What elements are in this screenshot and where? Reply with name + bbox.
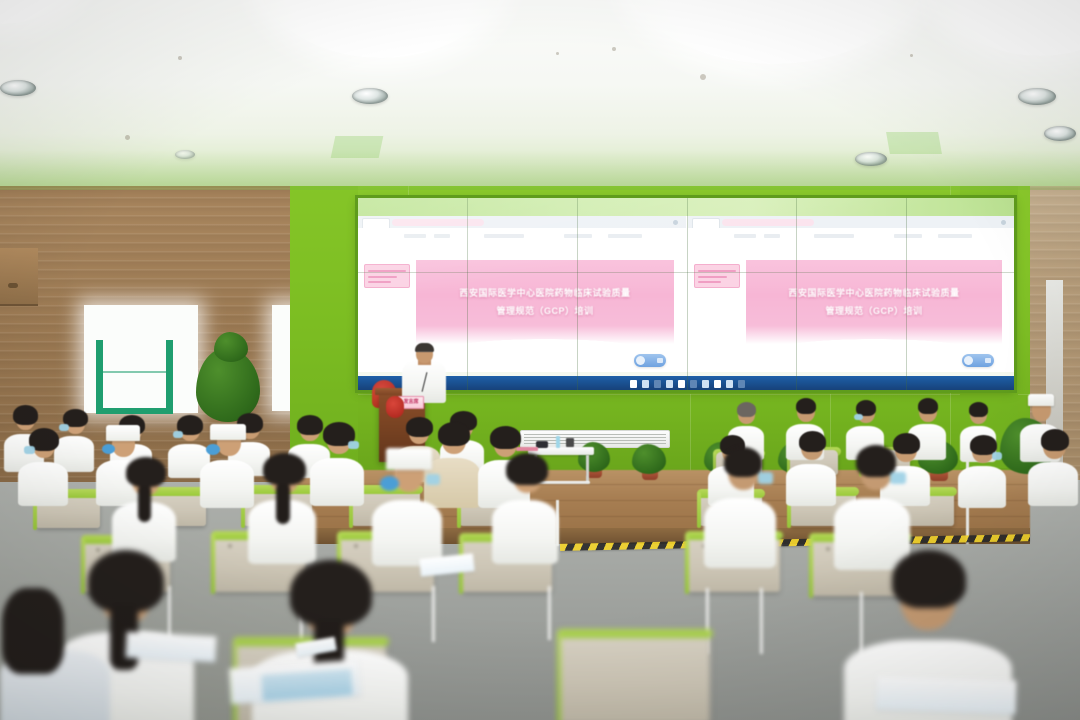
page-nav-row-left bbox=[364, 234, 680, 241]
browser-window-right[interactable]: 西安国际医学中心医院药物临床试验质量 管理规范（GCP）培训 bbox=[688, 216, 1014, 372]
window-frame-vertical-1 bbox=[96, 340, 103, 413]
browser-address-bar-right[interactable] bbox=[722, 219, 814, 226]
taskbar-icon-2[interactable] bbox=[654, 380, 661, 388]
window-frame-sill bbox=[96, 408, 173, 414]
ceiling bbox=[0, 0, 1080, 186]
window-frame-vertical-2 bbox=[166, 340, 173, 413]
foreground-person-far-left bbox=[0, 596, 110, 720]
slide-title-line1-right: 西安国际医学中心医院药物临床试验质量 bbox=[746, 286, 1002, 299]
browser-tab-left[interactable] bbox=[362, 218, 390, 228]
window-frame-mullion bbox=[96, 371, 173, 373]
water-bottle bbox=[556, 436, 560, 448]
table-item-device bbox=[566, 438, 574, 447]
taskbar-icon-8[interactable] bbox=[726, 380, 733, 388]
taskbar-icon-1[interactable] bbox=[642, 380, 649, 388]
screen-desktop-area: 西安国际医学中心医院药物临床试验质量 管理规范（GCP）培训 bbox=[358, 216, 1014, 372]
browser-page-right: 西安国际医学中心医院药物临床试验质量 管理规范（GCP）培训 bbox=[688, 228, 1014, 372]
browser-address-bar-left[interactable] bbox=[392, 219, 484, 226]
windows-taskbar[interactable] bbox=[358, 376, 1014, 390]
slide-title-line1-left: 西安国际医学中心医院药物临床试验质量 bbox=[416, 286, 674, 299]
cabinet-knob bbox=[8, 283, 18, 288]
browser-menu-dot-right[interactable] bbox=[1001, 220, 1006, 225]
page-side-card-right bbox=[694, 264, 740, 288]
page-side-card-left bbox=[364, 264, 410, 288]
ceiling-skylight-2 bbox=[256, 0, 506, 58]
ceiling-green-glow bbox=[0, 150, 1080, 190]
taskbar-icon-6[interactable] bbox=[702, 380, 709, 388]
floating-action-button-right[interactable] bbox=[962, 354, 994, 367]
ceiling-downlight-3 bbox=[1018, 88, 1056, 105]
start-button-icon[interactable] bbox=[630, 380, 637, 388]
taskbar-icon-9[interactable] bbox=[738, 380, 745, 388]
slide-title-line2-left: 管理规范（GCP）培训 bbox=[416, 304, 674, 317]
browser-tab-right[interactable] bbox=[692, 218, 720, 228]
wall-cabinet bbox=[0, 248, 38, 306]
browser-menu-dot-left[interactable] bbox=[673, 220, 678, 225]
hero-wave-right bbox=[746, 328, 1002, 344]
hero-wave-left bbox=[416, 328, 674, 344]
taskbar-icon-4[interactable] bbox=[678, 380, 685, 388]
ceiling-downlight-4 bbox=[1044, 126, 1076, 141]
ceiling-downlight-2 bbox=[352, 88, 388, 104]
taskbar-icon-3[interactable] bbox=[666, 380, 673, 388]
speaker-presenter bbox=[402, 344, 446, 402]
speaker-glasses bbox=[417, 351, 432, 356]
notes-front-left bbox=[125, 632, 216, 663]
lcd-video-wall[interactable]: 西安国际医学中心医院药物临床试验质量 管理规范（GCP）培训 bbox=[358, 198, 1014, 390]
floating-action-button-left[interactable] bbox=[634, 354, 666, 367]
window-plant-top bbox=[214, 332, 248, 362]
auditorium-photo: 西安国际医学中心医院药物临床试验质量 管理规范（GCP）培训 bbox=[0, 0, 1080, 720]
taskbar-icon-7[interactable] bbox=[714, 380, 721, 388]
page-nav-row-right bbox=[694, 234, 1008, 241]
ceiling-skylight-1 bbox=[0, 0, 82, 24]
red-banner-front bbox=[386, 396, 404, 418]
stage-plant-2 bbox=[632, 444, 666, 474]
ceiling-downlight-1 bbox=[0, 80, 36, 96]
slide-title-line2-right: 管理规范（GCP）培训 bbox=[746, 304, 1002, 317]
chair-front-2 bbox=[560, 632, 710, 720]
taskbar-icon-5[interactable] bbox=[690, 380, 697, 388]
ceiling-skylight-4 bbox=[930, 0, 1080, 56]
notes-front-right bbox=[875, 676, 1016, 715]
ceiling-skylight-3 bbox=[622, 0, 926, 64]
screen-top-band bbox=[358, 198, 1014, 216]
